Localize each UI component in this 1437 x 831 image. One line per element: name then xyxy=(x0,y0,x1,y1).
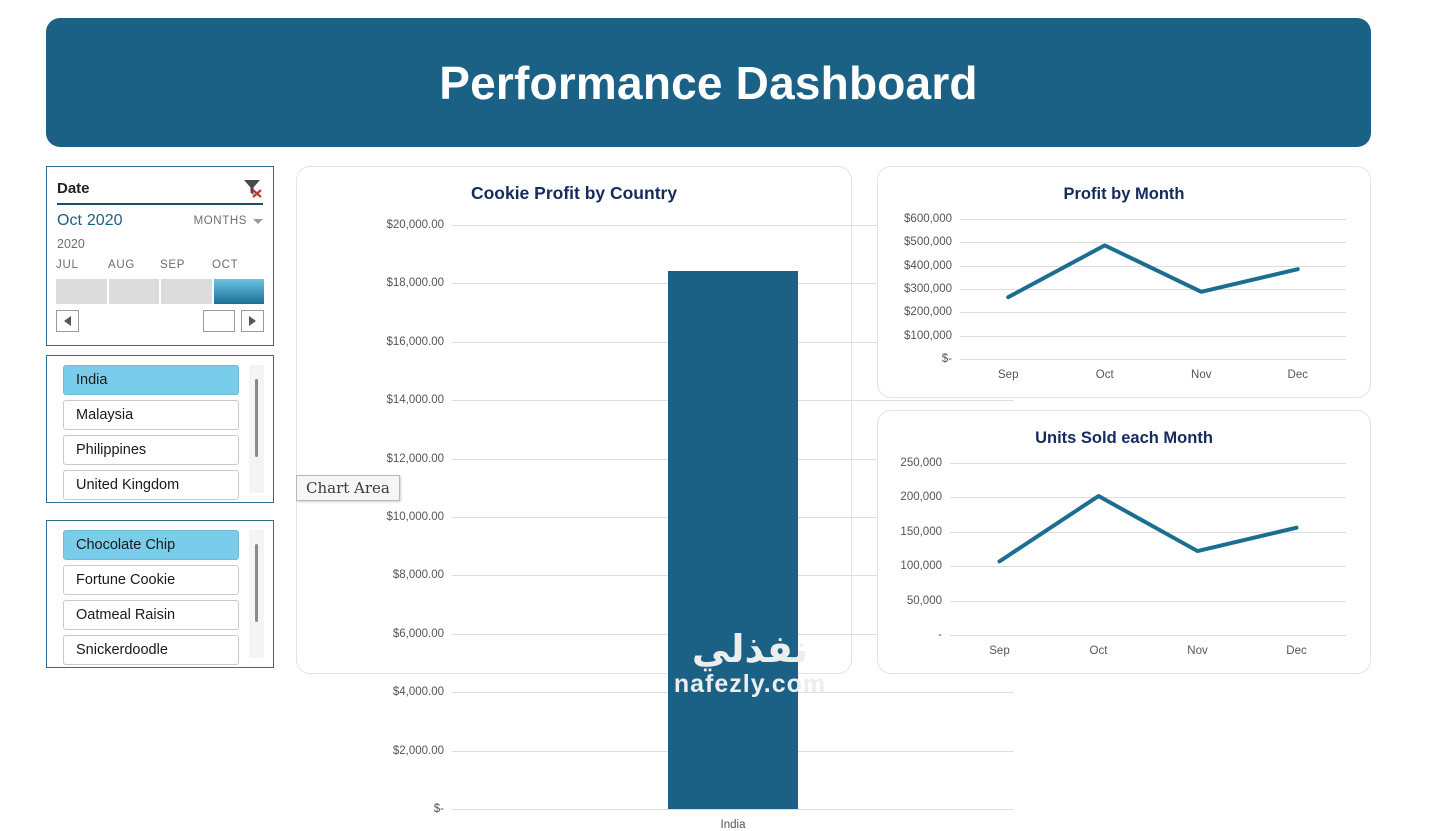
slicer-item-fortune-cookie[interactable]: Fortune Cookie xyxy=(63,565,239,595)
timeline-period-year: 2020 xyxy=(87,212,123,229)
slicer-item-india[interactable]: India xyxy=(63,365,239,395)
x-axis-tick-label: Dec xyxy=(1288,369,1308,381)
x-axis-tick-label: Nov xyxy=(1187,645,1207,657)
chart-title: Units Sold each Month xyxy=(878,429,1370,448)
timeline-divider xyxy=(57,203,263,205)
y-axis-tick-label: $- xyxy=(942,353,952,365)
timeline-month-label: JUL xyxy=(56,259,108,281)
y-axis-tick-label: $8,000.00 xyxy=(393,569,444,581)
timeline-scroll-handle[interactable] xyxy=(203,310,235,332)
y-axis-tick-label: $14,000.00 xyxy=(386,394,444,406)
gridline xyxy=(960,359,1346,360)
cookie-type-slicer[interactable]: Chocolate Chip Fortune Cookie Oatmeal Ra… xyxy=(46,520,274,668)
line-series-units-sold xyxy=(950,463,1346,635)
y-axis-tick-label: 100,000 xyxy=(900,560,942,572)
timeline-block-oct[interactable] xyxy=(214,279,265,304)
y-axis-tick-label: $16,000.00 xyxy=(386,336,444,348)
timeline-level-label: MONTHS xyxy=(194,215,247,227)
timeline-scroll-right-button[interactable] xyxy=(241,310,264,332)
y-axis-tick-label: 200,000 xyxy=(900,491,942,503)
y-axis-tick-label: $200,000 xyxy=(904,306,952,318)
y-axis-tick-label: $2,000.00 xyxy=(393,745,444,757)
x-axis-tick-label: Nov xyxy=(1191,369,1211,381)
timeline-year-label: 2020 xyxy=(57,237,85,251)
profit-by-month-chart[interactable]: Profit by Month $-$100,000$200,000$300,0… xyxy=(877,166,1371,398)
y-axis-tick-label: 150,000 xyxy=(900,526,942,538)
x-axis-tick-label: India xyxy=(721,819,746,831)
line-series-profit xyxy=(960,219,1346,359)
timeline-level-dropdown[interactable]: MONTHS xyxy=(194,215,263,227)
units-sold-each-month-chart[interactable]: Units Sold each Month -50,000100,000150,… xyxy=(877,410,1371,674)
y-axis-tick-label: 250,000 xyxy=(900,457,942,469)
timeline-block-aug[interactable] xyxy=(109,279,160,304)
slicer-item-oatmeal-raisin[interactable]: Oatmeal Raisin xyxy=(63,600,239,630)
timeline-month-label: SEP xyxy=(160,259,212,281)
bar-india[interactable] xyxy=(668,271,798,809)
chart-area-tooltip: Chart Area xyxy=(296,475,400,501)
country-slicer[interactable]: India Malaysia Philippines United Kingdo… xyxy=(46,355,274,503)
timeline-month-label: AUG xyxy=(108,259,160,281)
cookie-slicer-scrollbar[interactable] xyxy=(249,530,264,658)
cookie-slicer-list: Chocolate Chip Fortune Cookie Oatmeal Ra… xyxy=(63,530,239,670)
timeline-header: Date xyxy=(57,173,263,203)
timeline-selected-period: Oct2020 xyxy=(57,212,122,230)
x-axis-tick-label: Sep xyxy=(989,645,1009,657)
timeline-scrollbar[interactable] xyxy=(56,309,264,333)
y-axis-tick-label: $4,000.00 xyxy=(393,686,444,698)
slicer-item-united-kingdom[interactable]: United Kingdom xyxy=(63,470,239,500)
clear-filter-funnel-icon[interactable] xyxy=(241,178,263,198)
line-chart-plot-area[interactable]: $-$100,000$200,000$300,000$400,000$500,0… xyxy=(960,219,1346,359)
y-axis-tick-label: $600,000 xyxy=(904,213,952,225)
scrollbar-thumb[interactable] xyxy=(255,379,258,457)
triangle-right-icon xyxy=(249,316,256,326)
chevron-down-icon xyxy=(253,219,263,224)
y-axis-tick-label: $- xyxy=(434,803,444,815)
country-slicer-list: India Malaysia Philippines United Kingdo… xyxy=(63,365,239,505)
slicer-item-malaysia[interactable]: Malaysia xyxy=(63,400,239,430)
y-axis-tick-label: - xyxy=(938,629,942,641)
triangle-left-icon xyxy=(64,316,71,326)
slicer-item-snickerdoodle[interactable]: Snickerdoodle xyxy=(63,635,239,665)
chart-title: Cookie Profit by Country xyxy=(297,183,851,204)
y-axis-tick-label: $18,000.00 xyxy=(386,277,444,289)
x-axis-tick-label: Oct xyxy=(1090,645,1108,657)
country-slicer-scrollbar[interactable] xyxy=(249,365,264,493)
timeline-month-labels: JUL AUG SEP OCT xyxy=(56,259,264,281)
x-axis-tick-label: Dec xyxy=(1286,645,1306,657)
y-axis-tick-label: $10,000.00 xyxy=(386,511,444,523)
line-chart-plot-area[interactable]: -50,000100,000150,000200,000250,000 SepO… xyxy=(950,463,1346,635)
dashboard-header-banner: Performance Dashboard xyxy=(46,18,1371,147)
y-axis-tick-label: 50,000 xyxy=(907,595,942,607)
timeline-month-blocks[interactable] xyxy=(56,279,264,304)
date-timeline-slicer[interactable]: Date Oct2020 MONTHS 2020 JUL AUG SEP OCT xyxy=(46,166,274,346)
y-axis-tick-label: $6,000.00 xyxy=(393,628,444,640)
chart-title: Profit by Month xyxy=(878,185,1370,204)
timeline-month-label: OCT xyxy=(212,259,264,281)
timeline-subheader: Oct2020 MONTHS xyxy=(57,209,263,233)
y-axis-tick-label: $400,000 xyxy=(904,260,952,272)
x-axis-tick-label: Sep xyxy=(998,369,1018,381)
x-axis-tick-label: Oct xyxy=(1096,369,1114,381)
slicer-item-philippines[interactable]: Philippines xyxy=(63,435,239,465)
gridline xyxy=(950,635,1346,636)
timeline-period-month: Oct xyxy=(57,212,82,229)
page-title: Performance Dashboard xyxy=(439,56,977,110)
cookie-profit-by-country-chart[interactable]: Cookie Profit by Country $-$2,000.00$4,0… xyxy=(296,166,852,674)
y-axis-tick-label: $100,000 xyxy=(904,330,952,342)
y-axis-tick-label: $300,000 xyxy=(904,283,952,295)
y-axis-tick-label: $12,000.00 xyxy=(386,453,444,465)
timeline-scroll-left-button[interactable] xyxy=(56,310,79,332)
timeline-block-jul[interactable] xyxy=(56,279,107,304)
scrollbar-thumb[interactable] xyxy=(255,544,258,622)
y-axis-tick-label: $20,000.00 xyxy=(386,219,444,231)
timeline-block-sep[interactable] xyxy=(161,279,212,304)
slicer-item-chocolate-chip[interactable]: Chocolate Chip xyxy=(63,530,239,560)
gridline xyxy=(452,809,1014,810)
timeline-title: Date xyxy=(57,180,90,197)
y-axis-tick-label: $500,000 xyxy=(904,236,952,248)
